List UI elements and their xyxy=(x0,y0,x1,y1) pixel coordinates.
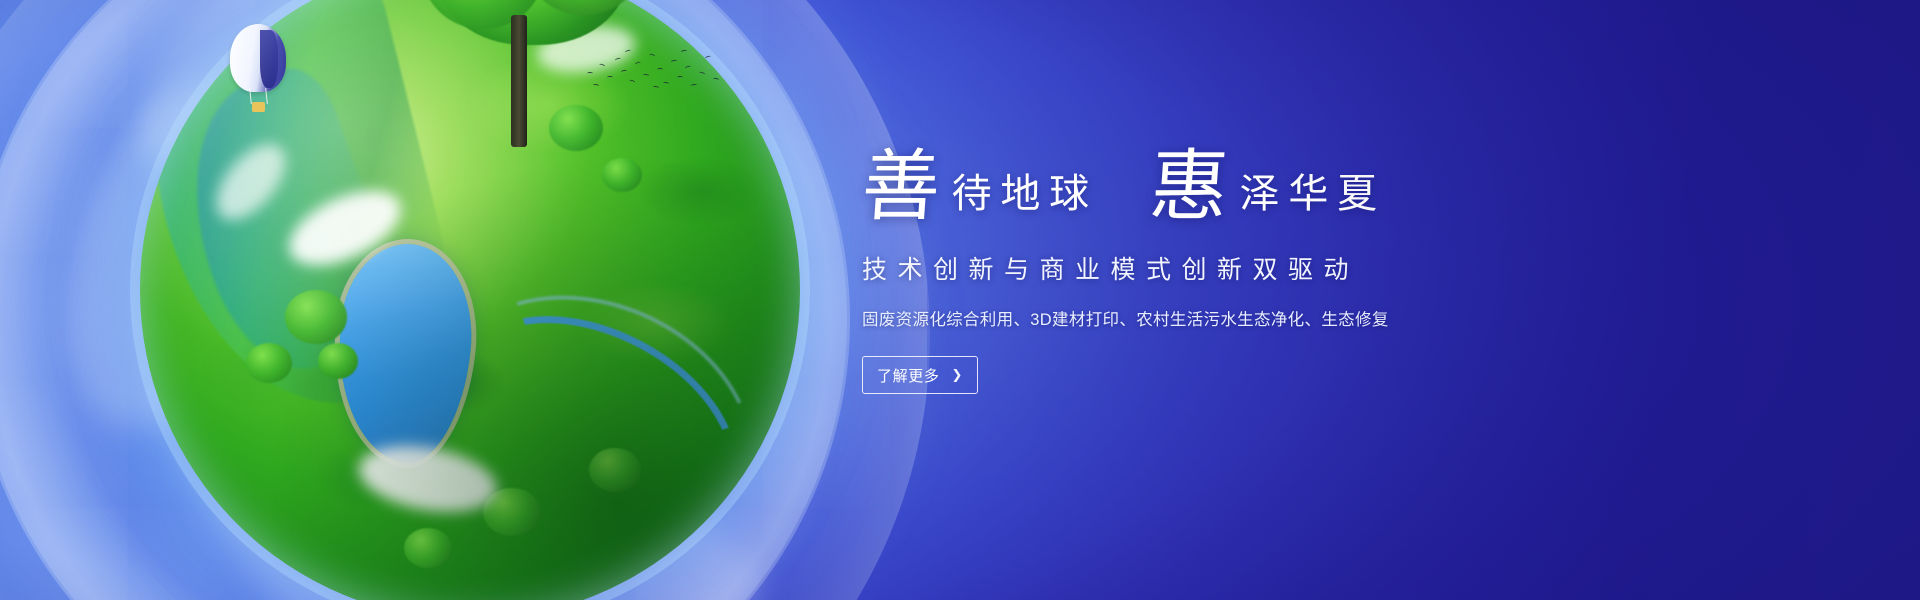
hero-banner: 善 待地球 惠 泽华夏 技术创新与商业模式创新双驱动 固废资源化综合利用、3D建… xyxy=(0,0,1920,600)
background-vignette xyxy=(0,0,1920,600)
